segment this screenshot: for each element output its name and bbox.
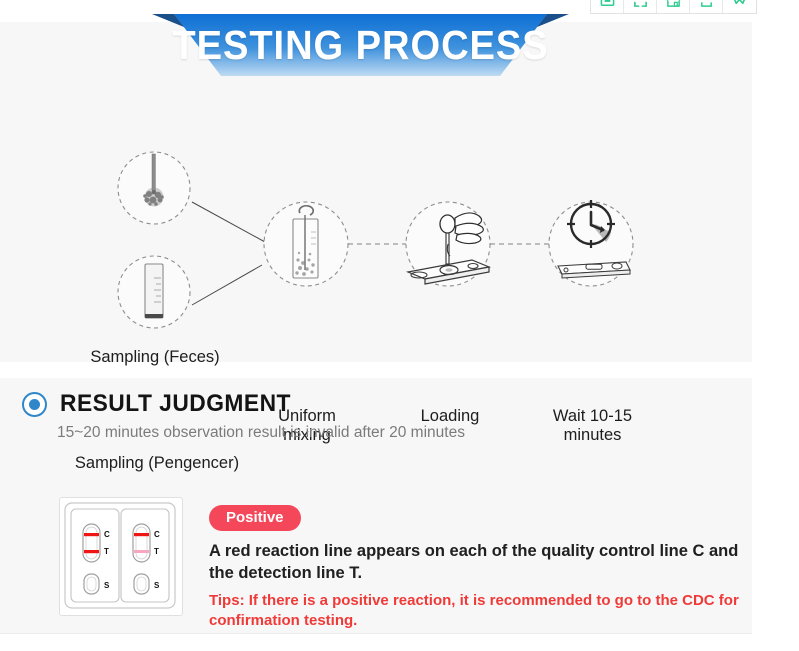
result-text-block: Positive A red reaction line appears on … [209,505,749,631]
svg-text:C: C [104,530,110,539]
result-subtitle: 15~20 minutes observation result is inva… [57,424,465,442]
step-label-wait: Wait 10-15 minutes [525,407,660,446]
home-icon[interactable] [657,0,690,13]
share-icon[interactable] [690,0,723,13]
cassette-right: C T S [121,509,169,602]
result-description: A red reaction line appears on each of t… [209,541,749,585]
bottom-divider [0,633,752,634]
note-icon[interactable] [591,0,624,13]
result-judgment-header: RESULT JUDGMENT [22,390,303,418]
result-tips: Tips: If there is a positive reaction, i… [209,591,749,632]
tube-icon [118,256,190,328]
pipette-loading-icon [406,202,490,286]
svg-text:C: C [154,530,160,539]
step-label-sampling-feces: Sampling (Feces) [50,348,260,367]
clock-icon [549,200,633,286]
status-badge: Positive [209,505,301,531]
testing-process-banner: TESTING PROCESS [122,14,599,76]
test-cassette-figure: C T S C T S [59,497,183,616]
cassette-left: C T S [71,509,119,602]
mixing-tube-icon [264,202,348,286]
expand-icon[interactable] [624,0,657,13]
process-diagram: Sampling (Feces) Sampling (Pengencer) Un… [0,120,752,360]
svg-text:T: T [104,547,109,556]
svg-text:S: S [104,581,110,590]
banner-title: TESTING PROCESS [139,14,583,76]
step-label-sampling-pengencer: Sampling (Pengencer) [42,454,272,473]
top-toolbar[interactable] [590,0,757,14]
svg-text:S: S [154,581,160,590]
favorite-icon[interactable] [723,0,756,13]
radio-bullet-icon [22,392,47,417]
svg-text:T: T [154,547,159,556]
page-title: RESULT JUDGMENT [60,390,291,418]
swab-icon [118,152,190,224]
